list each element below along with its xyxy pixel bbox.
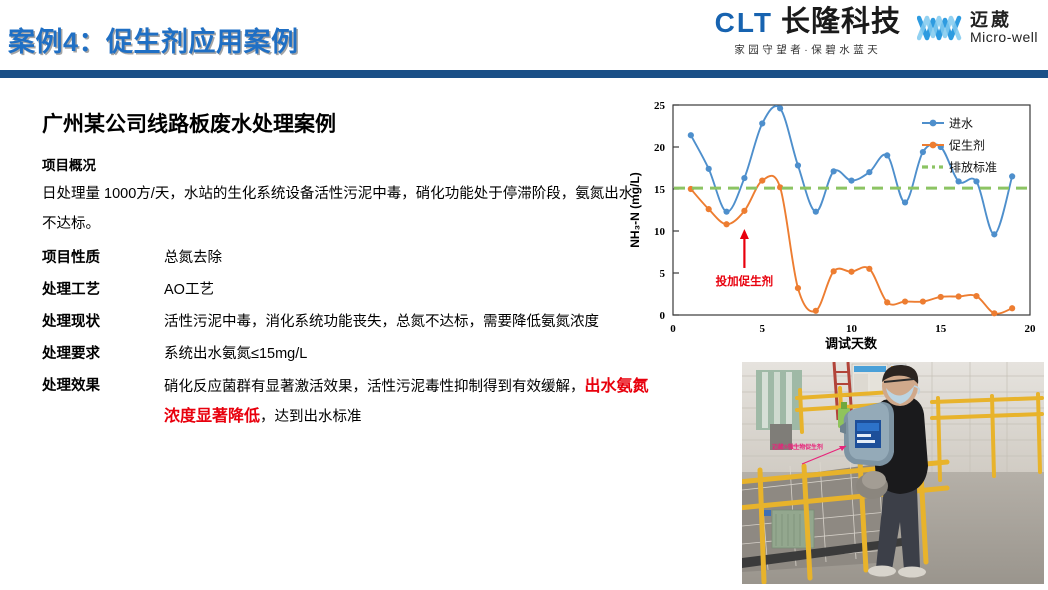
microwell-logo: 迈葳 Micro-well <box>917 8 1038 46</box>
spec-key: 处理要求 <box>42 340 164 369</box>
microwell-english-name: Micro-well <box>970 30 1038 46</box>
overview-paragraph: 日处理量 1000方/天，水站的生化系统设备活性污泥中毒，硝化功能处于停滞阶段，… <box>42 179 642 239</box>
chart-svg: 0510152025 05101520 进水促生剂排放标准 投加促生剂 调试天数… <box>622 92 1042 357</box>
spec-key: 处理效果 <box>42 372 164 401</box>
clt-logo: CLT 长隆科技 家园守望者·保碧水蓝天 <box>715 8 901 57</box>
svg-text:20: 20 <box>1025 323 1037 335</box>
svg-text:10: 10 <box>846 323 858 335</box>
legend-label: 进水 <box>949 117 973 131</box>
table-row: 项目性质 总氮去除 <box>42 244 652 273</box>
clt-wordmark: CLT <box>715 9 773 37</box>
wave-icon <box>917 12 963 44</box>
svg-text:25: 25 <box>654 100 666 112</box>
logo-block: CLT 长隆科技 家园守望者·保碧水蓝天 迈葳 Micro-well <box>715 8 1038 66</box>
site-photo: 迈葳®微生物促生剂 <box>742 362 1044 584</box>
spec-value: AO工艺 <box>164 276 652 305</box>
spec-table: 项目性质 总氮去除 处理工艺 AO工艺 处理现状 活性污泥中毒，消化系统功能丧失… <box>42 244 652 435</box>
svg-text:0: 0 <box>660 310 666 322</box>
spec-value: 活性污泥中毒，消化系统功能丧失，总氮不达标，需要降低氨氮浓度 <box>164 308 652 337</box>
legend-label: 排放标准 <box>949 160 997 175</box>
clt-chinese-name: 长隆科技 <box>781 8 901 37</box>
svg-text:10: 10 <box>654 226 666 238</box>
x-axis-tick-labels: 05101520 <box>670 323 1036 335</box>
legend-label: 促生剂 <box>949 138 985 153</box>
svg-text:15: 15 <box>935 323 947 335</box>
slide-header: 案例4：促生剂应用案例 CLT 长隆科技 家园守望者·保碧水蓝天 迈葳 Micr… <box>0 0 1048 78</box>
table-row: 处理效果 硝化反应菌群有显著激活效果，活性污泥毒性抑制得到有效缓解，出水氨氮浓度… <box>42 372 652 432</box>
y-axis-tick-labels: 0510152025 <box>654 100 666 322</box>
annotation-label: 投加促生剂 <box>716 274 774 288</box>
photo-illustration <box>742 362 1044 584</box>
spec-key: 项目性质 <box>42 244 164 273</box>
section-heading-overview: 项目概况 <box>42 154 96 174</box>
spec-key: 处理现状 <box>42 308 164 337</box>
table-row: 处理现状 活性污泥中毒，消化系统功能丧失，总氮不达标，需要降低氨氮浓度 <box>42 308 652 337</box>
case-title: 广州某公司线路板废水处理案例 <box>42 108 336 138</box>
svg-text:20: 20 <box>654 142 666 154</box>
svg-text:5: 5 <box>760 323 766 335</box>
nh3n-line-chart: 0510152025 05101520 进水促生剂排放标准 投加促生剂 调试天数… <box>622 92 1042 357</box>
clt-slogan: 家园守望者·保碧水蓝天 <box>715 42 901 57</box>
y-axis-title: NH₃-N (mg/L) <box>628 172 642 248</box>
spec-value-effect: 硝化反应菌群有显著激活效果，活性污泥毒性抑制得到有效缓解，出水氨氮浓度显著降低，… <box>164 372 652 432</box>
svg-text:15: 15 <box>654 184 666 196</box>
svg-text:0: 0 <box>670 323 676 335</box>
effect-text-pre: 硝化反应菌群有显著激活效果，活性污泥毒性抑制得到有效缓解， <box>164 379 585 395</box>
photo-caption: 迈葳®微生物促生剂 <box>772 442 823 451</box>
microwell-chinese-name: 迈葳 <box>970 10 1038 30</box>
header-divider <box>0 70 1048 78</box>
x-axis-title: 调试天数 <box>825 336 878 351</box>
spec-key: 处理工艺 <box>42 276 164 305</box>
spec-value: 总氮去除 <box>164 244 652 273</box>
effect-text-post: ，达到出水标准 <box>260 409 362 425</box>
page-title: 案例4：促生剂应用案例 <box>8 20 299 59</box>
svg-text:5: 5 <box>660 268 666 280</box>
table-row: 处理要求 系统出水氨氮≤15mg/L <box>42 340 652 369</box>
spec-value: 系统出水氨氮≤15mg/L <box>164 340 652 369</box>
table-row: 处理工艺 AO工艺 <box>42 276 652 305</box>
